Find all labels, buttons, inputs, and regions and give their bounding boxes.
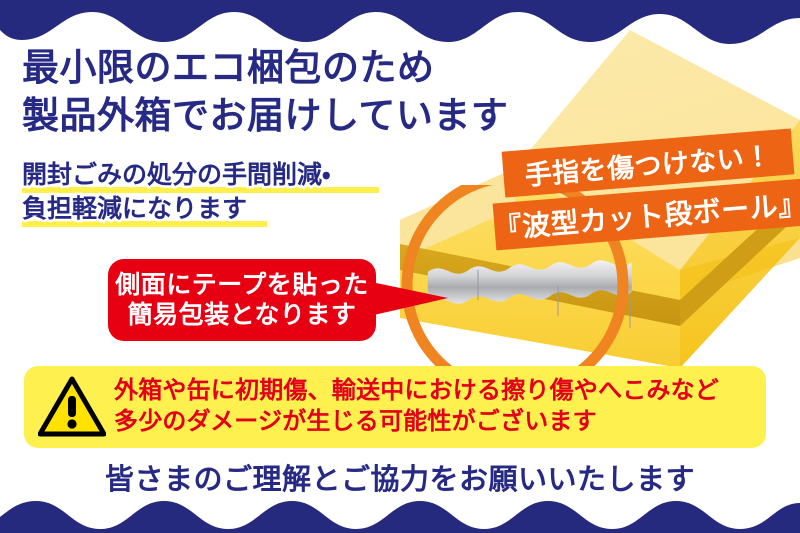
subtext-line-1-text: 開封ごみの処分の手間削減・ [22,161,331,189]
warning-line-1: 外箱や缶に初期傷、輸送中における擦り傷やへこみなど [114,376,719,407]
warning-line-2: 多少のダメージが生じる可能性がございます [114,407,719,438]
subtext-line-2: 負担軽減になります [22,197,331,222]
headline: 最小限のエコ梱包のため 製品外箱でお届けしています [22,44,562,140]
red-callout-line-2: 簡易包装となります [128,300,357,331]
warning-box: 外箱や缶に初期傷、輸送中における擦り傷やへこみなど 多少のダメージが生じる可能性… [24,366,766,448]
warning-triangle-icon [38,376,106,438]
headline-line-2: 製品外箱でお届けしています [22,92,562,140]
red-callout-box: 側面にテープを貼った 簡易包装となります [108,259,376,341]
subtext-line-2-text: 負担軽減になります [22,195,247,223]
subtext-line-1: 開封ごみの処分の手間削減・ [22,163,331,188]
headline-line-1: 最小限のエコ梱包のため [22,44,562,92]
subtext: 開封ごみの処分の手間削減・ 負担軽減になります [22,163,331,231]
closing-line: 皆さまのご理解とご協力をお願いいたします [0,456,800,498]
red-callout-line-1: 側面にテープを貼った [115,270,369,301]
eco-packaging-notice-banner: 最小限のエコ梱包のため 製品外箱でお届けしています 開封ごみの処分の手間削減・ … [0,0,800,533]
warning-text: 外箱や缶に初期傷、輸送中における擦り傷やへこみなど 多少のダメージが生じる可能性… [114,376,719,437]
